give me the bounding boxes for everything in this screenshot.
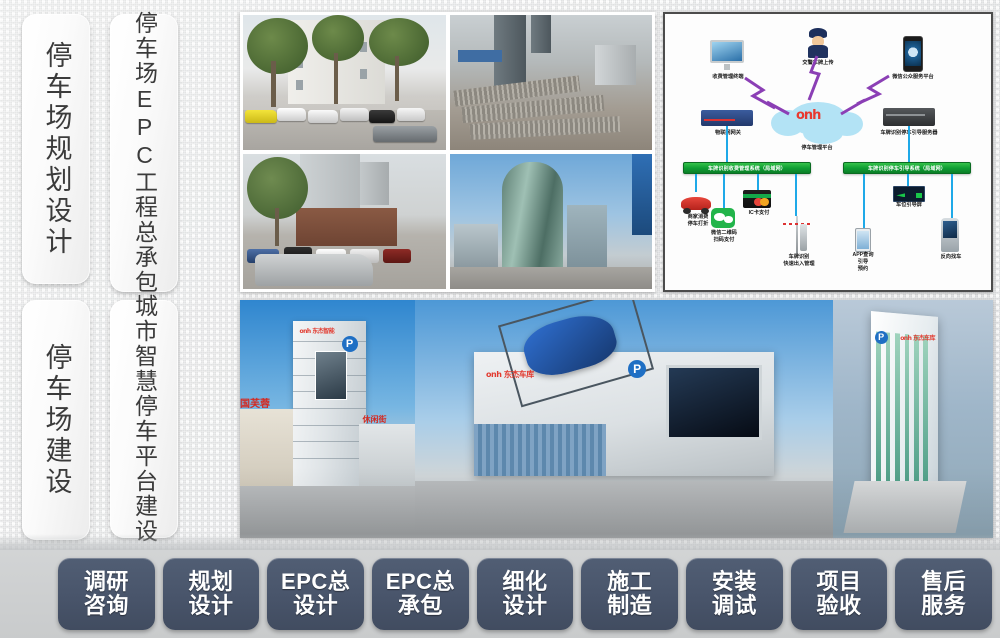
label-plate-recognition-fast-access: 车牌识别 快速出入管理: [773, 254, 825, 268]
sidebar-tab-label: 停车场EPC工程总承包: [133, 11, 156, 295]
step-line2: 制造: [607, 594, 652, 618]
step-line1: 安装: [712, 570, 757, 594]
label-reverse-car-finding: 反向找车: [929, 254, 973, 261]
step-line2: 验收: [817, 594, 862, 618]
render-street-tower: onh 东杰智能 P 国芙蓉 休闲街: [240, 300, 415, 538]
render-aerial-tower: P onh 东杰车库: [833, 300, 993, 538]
step-line1: EPC总: [281, 570, 350, 594]
parking-guidance-screen-icon: [893, 186, 925, 202]
red-car-icon: [681, 192, 711, 214]
step-line1: 调研: [84, 570, 129, 594]
step-line2: 设计: [503, 594, 548, 618]
wechat-icon: [711, 208, 735, 228]
connector-line: [908, 126, 910, 162]
step-planning-design[interactable]: 规划 设计: [163, 558, 260, 630]
step-construction-manufacturing[interactable]: 施工 制造: [581, 558, 678, 630]
sidebar-tab-label: 停车场建设: [43, 343, 70, 498]
process-steps: 调研 咨询 规划 设计 EPC总 设计 EPC总 承包 细化 设计 施工 制造 …: [58, 558, 992, 630]
app-phone-icon: [855, 228, 871, 252]
cloud-shape: [803, 122, 843, 144]
label-app-query-guidance-booking: APP查询 引导 预约: [843, 252, 883, 273]
connector-line: [723, 174, 725, 208]
step-line2: 服务: [921, 594, 966, 618]
sidebar-tab-label: 停车场规划设计: [43, 41, 70, 258]
lightning-link-icon: [741, 74, 793, 118]
step-line1: 售后: [921, 570, 966, 594]
label-wechat-qr-payment: 微信二维码 扫码支付: [699, 230, 749, 244]
sidebar-tab-city-smart-parking-platform[interactable]: 城市智慧停车平台建设: [110, 300, 178, 538]
step-line2: 调试: [712, 594, 757, 618]
step-line1: 项目: [817, 570, 862, 594]
step-line1: 规划: [189, 570, 234, 594]
sidebar-tab-parking-construction[interactable]: 停车场建设: [22, 300, 90, 540]
render-parking-garage: onh 东杰车库 P: [415, 300, 833, 538]
connector-line: [951, 174, 953, 218]
label-parking-management-platform: 停车管理平台: [777, 145, 857, 152]
onh-brand-text: onh: [796, 108, 820, 123]
connector-line: [863, 174, 865, 228]
lightning-link-icon: [833, 72, 893, 118]
label-ic-card-payment: IC卡支付: [739, 210, 779, 217]
connector-line: [695, 174, 697, 192]
photo-parking-lot-brick-building: [243, 154, 446, 289]
photo-grid: [240, 12, 655, 292]
label-parking-space-guidance-screen: 车位引导屏: [887, 202, 931, 209]
monitor-icon: [710, 40, 744, 70]
step-line1: 施工: [607, 570, 652, 594]
photo-aerial-view-city-parking: [450, 15, 653, 150]
step-line2: 承包: [398, 594, 443, 618]
step-line1: EPC总: [386, 570, 455, 594]
green-bar-plate-recognition-guidance-system: 车牌识别停车引导系统（局域网）: [843, 162, 971, 174]
step-research-consulting[interactable]: 调研 咨询: [58, 558, 155, 630]
step-after-sales-service[interactable]: 售后 服务: [895, 558, 992, 630]
smartphone-icon: [903, 36, 923, 72]
step-line2: 设计: [189, 594, 234, 618]
render-strip: onh 东杰智能 P 国芙蓉 休闲街 onh 东杰车库 P P onh 东杰车库: [240, 300, 993, 538]
reverse-car-finding-kiosk-icon: [941, 218, 959, 252]
connector-line: [795, 174, 797, 216]
sidebar-tab-parking-planning-design[interactable]: 停车场规划设计: [22, 14, 90, 284]
parking-system-architecture-diagram: onh 停车管理平台 收费管理终端 交警车牌上传 微信公众服务平台 物联网网关 …: [663, 12, 993, 292]
step-line2: 设计: [293, 594, 338, 618]
step-project-acceptance[interactable]: 项目 验收: [791, 558, 888, 630]
step-epc-general-contract[interactable]: EPC总 承包: [372, 558, 469, 630]
connector-line: [726, 126, 728, 162]
sidebar-tab-label: 城市智慧停车平台建设: [133, 294, 156, 544]
barrier-gate-icon: [783, 216, 811, 254]
green-bar-plate-recognition-toll-system: 车牌识别收费管理系统（局域网）: [683, 162, 811, 174]
photo-surface-parking-lot-with-trees: [243, 15, 446, 150]
ic-card-icon: [743, 190, 771, 208]
lightning-link-icon: [805, 54, 825, 104]
label-iot-gateway: 物联网网关: [701, 130, 755, 137]
step-installation-commissioning[interactable]: 安装 调试: [686, 558, 783, 630]
step-line1: 细化: [503, 570, 548, 594]
step-detailed-design[interactable]: 细化 设计: [477, 558, 574, 630]
step-epc-overall-design[interactable]: EPC总 设计: [267, 558, 364, 630]
photo-glass-office-tower: [450, 154, 653, 289]
connector-line: [757, 174, 759, 190]
sidebar-tab-parking-epc-general-contracting[interactable]: 停车场EPC工程总承包: [110, 14, 178, 292]
step-line2: 咨询: [84, 594, 129, 618]
